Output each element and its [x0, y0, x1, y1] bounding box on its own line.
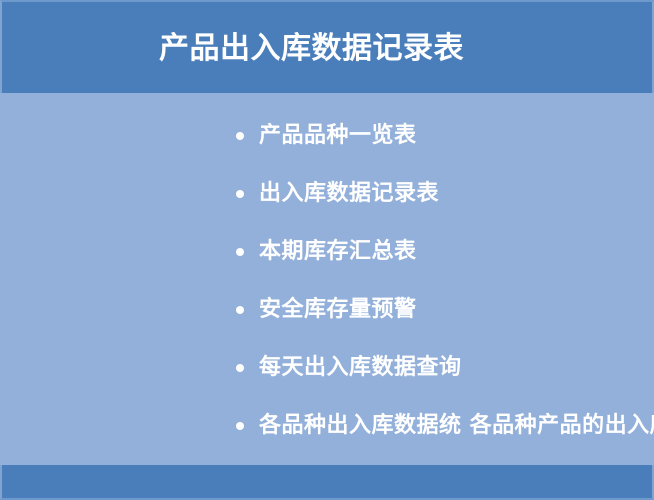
list-item[interactable]: 安全库存量预警	[236, 293, 417, 327]
list-item-label: 各品种出入库数据统 各品种产品的出入库	[259, 409, 654, 443]
list-item-label: 安全库存量预警	[259, 293, 417, 327]
bullet-dot-icon	[236, 364, 244, 372]
list-item-label: 出入库数据记录表	[259, 177, 439, 211]
list-item-label: 本期库存汇总表	[259, 235, 417, 269]
presentation-slide: 产品出入库数据记录表 产品品种一览表 出入库数据记录表 本期库存汇总表 安全库存…	[0, 0, 654, 500]
bullet-dot-icon	[236, 422, 244, 430]
title-band: 产品出入库数据记录表	[0, 0, 654, 93]
bullet-list: 产品品种一览表 出入库数据记录表 本期库存汇总表 安全库存量预警 每天出入库数据…	[0, 93, 654, 465]
list-item[interactable]: 各品种出入库数据统 各品种产品的出入库	[236, 409, 654, 443]
list-item[interactable]: 产品品种一览表	[236, 119, 417, 153]
list-item[interactable]: 每天出入库数据查询	[236, 351, 462, 385]
page-title: 产品出入库数据记录表	[159, 29, 619, 69]
bullet-dot-icon	[236, 190, 244, 198]
list-item-label: 产品品种一览表	[259, 119, 417, 153]
list-item[interactable]: 本期库存汇总表	[236, 235, 417, 269]
footer-band	[0, 465, 654, 500]
bullet-dot-icon	[236, 306, 244, 314]
bullet-dot-icon	[236, 132, 244, 140]
bullet-dot-icon	[236, 248, 244, 256]
list-item-label: 每天出入库数据查询	[259, 351, 462, 385]
list-item[interactable]: 出入库数据记录表	[236, 177, 439, 211]
